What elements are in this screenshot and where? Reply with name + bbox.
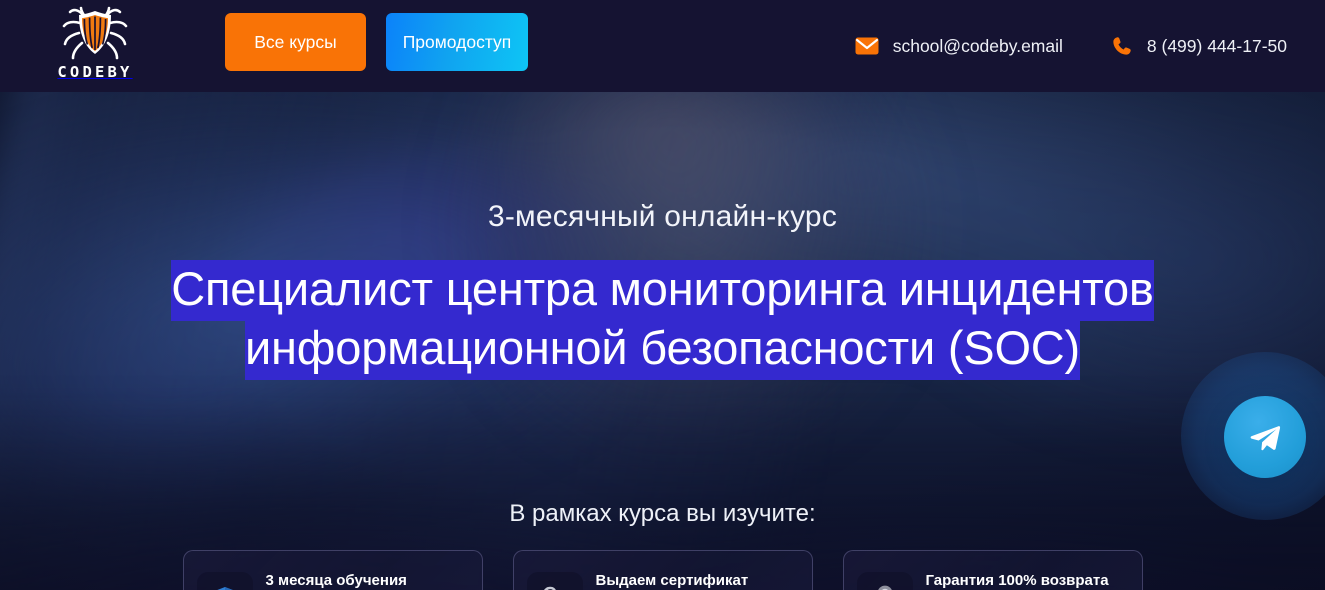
spider-shield-logo-icon [61,6,129,64]
envelope-icon [855,37,879,55]
feature-card-guarantee: $ Гарантия 100% возврата средств в первы… [843,550,1143,590]
email-contact[interactable]: school@codeby.email [855,36,1063,57]
logo-wordmark: CODEBY [57,65,132,81]
feature-card-text: 3 месяца обучения с видеоуроками и задан… [266,571,469,590]
feature-card-title: 3 месяца обучения [266,571,469,590]
certificate-scroll-icon [527,572,583,590]
feature-card-text: Выдаем сертификат после успешной сдачи э… [596,571,799,590]
feature-card-duration: 3 месяца обучения с видеоуроками и задан… [183,550,483,590]
promo-access-button[interactable]: Промодоступ [386,13,528,71]
feature-card-certificate: Выдаем сертификат после успешной сдачи э… [513,550,813,590]
phone-icon [1111,35,1133,57]
phone-text: 8 (499) 444-17-50 [1147,36,1287,57]
telegram-paper-plane-icon [1245,417,1285,457]
all-courses-button[interactable]: Все курсы [225,13,366,71]
hero-content: 3-месячный онлайн-курс Специалист центра… [0,92,1325,590]
site-header: CODEBY Все курсы Промодоступ school@code… [0,0,1325,92]
hero-title-line-2: информационной безопасности (SOC) [245,319,1080,380]
telegram-chat-button[interactable] [1224,396,1306,478]
email-text: school@codeby.email [893,36,1063,57]
logo[interactable]: CODEBY [40,6,150,86]
feature-card-title: Гарантия 100% возврата [926,571,1129,590]
hero-subtitle: В рамках курса вы изучите: [0,500,1325,528]
header-contacts: school@codeby.email 8 (499) 444-17-50 [855,0,1287,92]
phone-contact[interactable]: 8 (499) 444-17-50 [1111,35,1287,57]
feature-card-title: Выдаем сертификат [596,571,799,590]
money-back-icon: $ [857,572,913,590]
page-root: CODEBY Все курсы Промодоступ school@code… [0,0,1325,590]
hero-section: 3-месячный онлайн-курс Специалист центра… [0,92,1325,590]
feature-card-text: Гарантия 100% возврата средств в первые … [926,571,1129,590]
header-buttons: Все курсы Промодоступ [225,13,528,71]
graduation-cap-icon [197,572,253,590]
page-title: Специалист центра мониторинга инцидентов… [110,259,1215,377]
hero-title-wrapper: Специалист центра мониторинга инцидентов… [0,259,1325,377]
hero-title-line-1: Специалист центра мониторинга инцидентов [171,260,1153,321]
feature-cards: 3 месяца обучения с видеоуроками и задан… [0,550,1325,590]
hero-eyebrow: 3-месячный онлайн-курс [0,200,1325,234]
